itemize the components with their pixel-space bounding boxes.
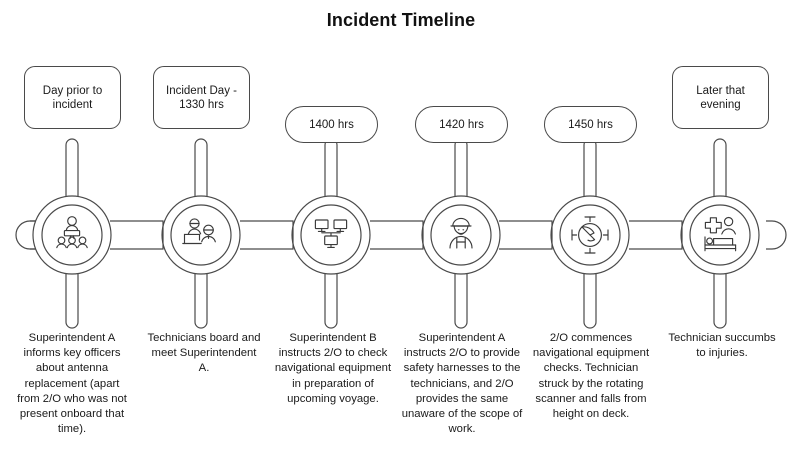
stem-up-2 bbox=[195, 139, 207, 196]
step-description-4: Superintendent A instructs 2/O to provid… bbox=[399, 331, 525, 437]
node-outer-ring-6 bbox=[681, 196, 759, 274]
meeting-briefing-icon bbox=[57, 217, 87, 248]
stem-down-2 bbox=[195, 274, 207, 328]
time-label-box-2[interactable]: Incident Day - 1330 hrs bbox=[153, 66, 250, 129]
stem-up-3 bbox=[325, 139, 337, 196]
hospital-bed-medical-icon bbox=[705, 218, 736, 251]
stem-down-6 bbox=[714, 274, 726, 328]
node-outer-ring-2 bbox=[162, 196, 240, 274]
step-description-3: Superintendent B instructs 2/O to check … bbox=[272, 331, 394, 407]
stem-down-3 bbox=[325, 274, 337, 328]
time-label-text-1: Day prior to incident bbox=[29, 84, 116, 112]
time-label-box-1[interactable]: Day prior to incident bbox=[24, 66, 121, 129]
time-label-box-5[interactable]: 1450 hrs bbox=[544, 106, 637, 143]
time-label-box-3[interactable]: 1400 hrs bbox=[285, 106, 378, 143]
node-group-6 bbox=[681, 139, 759, 328]
time-label-text-4: 1420 hrs bbox=[439, 118, 484, 132]
bar-segment-1 bbox=[110, 221, 163, 249]
node-inner-ring-4 bbox=[431, 205, 491, 265]
bar-segment-5 bbox=[629, 221, 682, 249]
worker-safety-harness-icon bbox=[450, 218, 472, 248]
node-outer-ring-1 bbox=[33, 196, 111, 274]
timeline-bar-right-cap bbox=[766, 221, 786, 249]
stem-down-5 bbox=[584, 274, 596, 328]
stem-down-4 bbox=[455, 274, 467, 328]
technicians-desk-meeting-icon bbox=[183, 219, 216, 244]
rotating-radar-scanner-icon bbox=[572, 217, 608, 253]
bar-segment-4 bbox=[499, 221, 552, 249]
bar-segment-2 bbox=[240, 221, 293, 249]
step-description-5: 2/O commences navigational equipment che… bbox=[527, 331, 655, 422]
stem-up-4 bbox=[455, 139, 467, 196]
node-inner-ring-2 bbox=[171, 205, 231, 265]
time-label-text-3: 1400 hrs bbox=[309, 118, 354, 132]
stem-up-1 bbox=[66, 139, 78, 196]
stem-down-1 bbox=[66, 274, 78, 328]
time-label-box-6[interactable]: Later that evening bbox=[672, 66, 769, 129]
step-description-6: Technician succumbs to injuries. bbox=[663, 331, 781, 361]
bar-segment-3 bbox=[370, 221, 423, 249]
stem-up-6 bbox=[714, 139, 726, 196]
timeline-diagram: Incident Timeline bbox=[0, 0, 802, 454]
node-outer-ring-4 bbox=[422, 196, 500, 274]
time-label-text-6: Later that evening bbox=[677, 84, 764, 112]
node-inner-ring-1 bbox=[42, 205, 102, 265]
node-group-1 bbox=[33, 139, 111, 328]
time-label-text-5: 1450 hrs bbox=[568, 118, 613, 132]
time-label-box-4[interactable]: 1420 hrs bbox=[415, 106, 508, 143]
step-description-1: Superintendent A informs key officers ab… bbox=[10, 331, 134, 437]
node-group-5 bbox=[551, 139, 629, 328]
step-description-2: Technicians board and meet Superintenden… bbox=[143, 331, 265, 377]
time-label-text-2: Incident Day - 1330 hrs bbox=[158, 84, 245, 112]
navigation-equipment-monitors-icon bbox=[315, 220, 346, 247]
node-inner-ring-6 bbox=[690, 205, 750, 265]
stem-up-5 bbox=[584, 139, 596, 196]
